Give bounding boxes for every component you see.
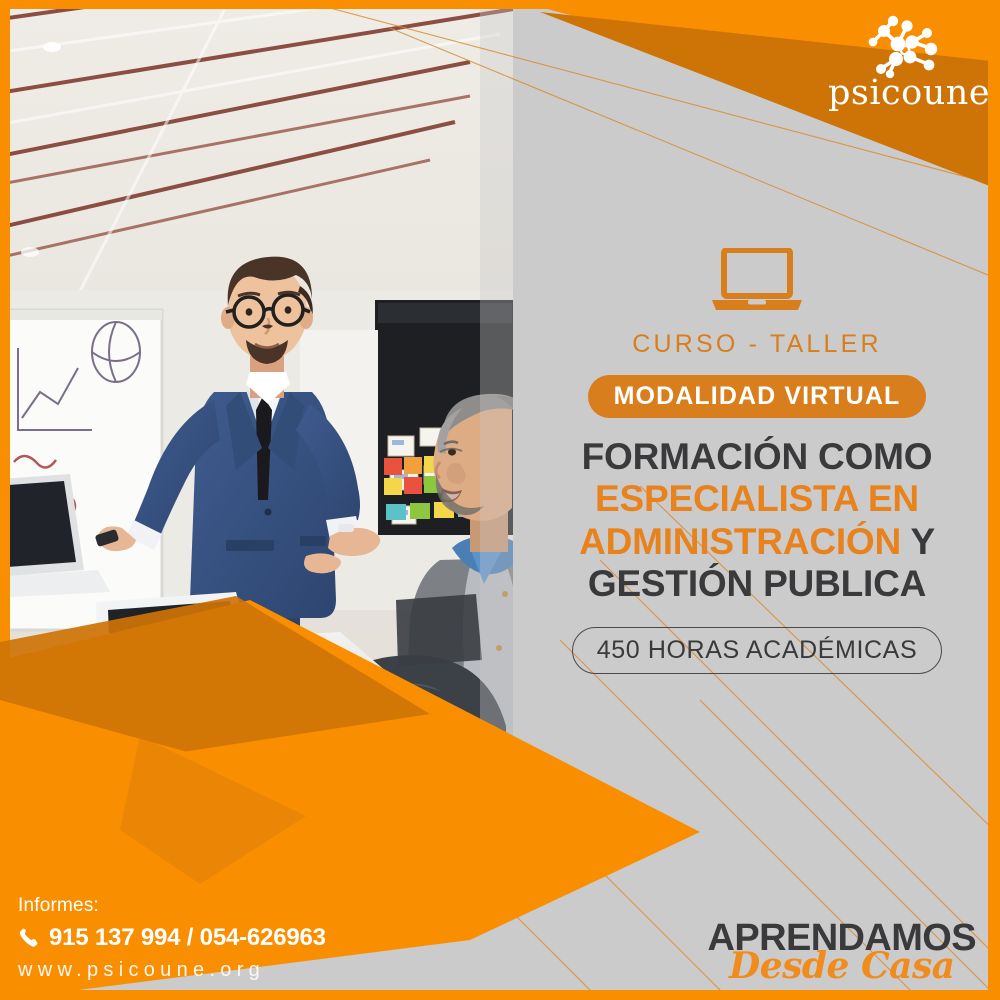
main-content-block: CURSO - TALLER MODALIDAD VIRTUAL FORMACI…	[528, 248, 986, 674]
contact-phone-number: 915 137 994 / 054-626963	[49, 924, 326, 952]
brand-logo[interactable]: psicoune	[828, 14, 978, 111]
contact-label: Informes:	[18, 895, 326, 917]
contact-website[interactable]: www.psicoune.org	[18, 959, 326, 982]
contact-phone-row[interactable]: 915 137 994 / 054-626963	[18, 924, 326, 952]
headline-line-3-dark: Y	[901, 521, 935, 562]
tagline-line-2: Desde Casa	[708, 948, 976, 984]
classroom-photo-illustration	[0, 0, 513, 800]
tagline-block: APRENDAMOS Desde Casa	[708, 919, 976, 984]
laptop-icon	[710, 248, 804, 314]
headline-line-3: ADMINISTRACIÓN Y	[528, 521, 986, 563]
headline-line-2: ESPECIALISTA EN	[528, 478, 986, 520]
headline-line-4: GESTIÓN PUBLICA	[528, 563, 986, 605]
headline-line-1: FORMACIÓN COMO	[528, 436, 986, 478]
logo-wordmark: psicoune	[828, 76, 978, 111]
headline-line-3-orange: ADMINISTRACIÓN	[579, 521, 901, 562]
molecule-network-icon	[860, 14, 946, 80]
contact-block: Informes: 915 137 994 / 054-626963 www.p…	[18, 895, 326, 982]
course-kicker: CURSO - TALLER	[528, 330, 986, 359]
modality-badge: MODALIDAD VIRTUAL	[588, 375, 927, 418]
phone-icon	[18, 927, 40, 949]
hours-badge: 450 HORAS ACADÉMICAS	[572, 627, 942, 674]
promotional-poster: psicoune CURSO - TALLER MODALIDAD VIRTUA…	[0, 0, 1000, 1000]
page-title: FORMACIÓN COMO ESPECIALISTA EN ADMINISTR…	[528, 436, 986, 605]
background-photo	[0, 0, 513, 800]
